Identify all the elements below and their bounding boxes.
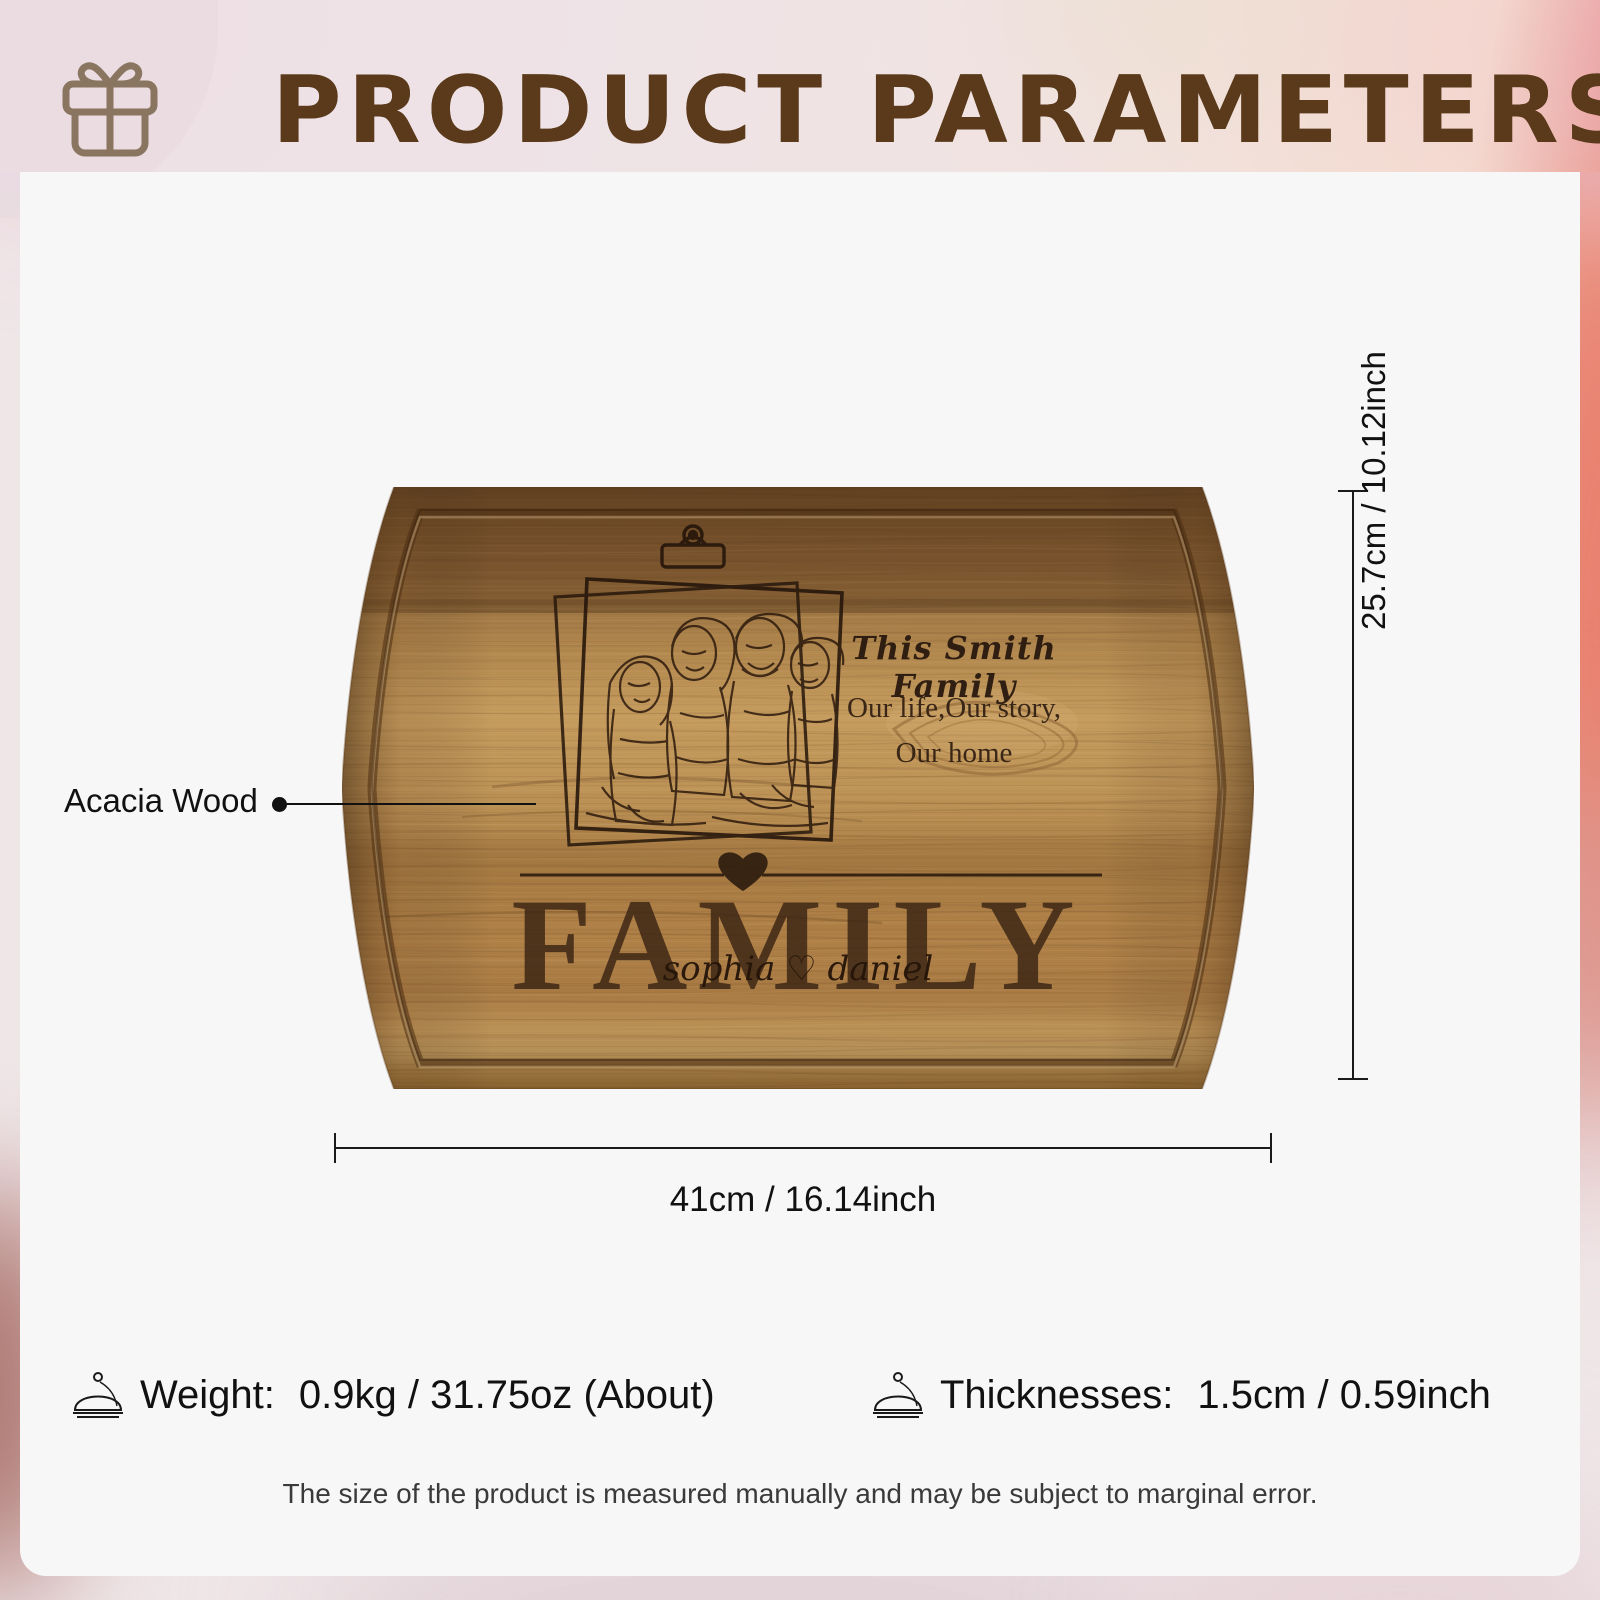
material-callout-leader-line bbox=[286, 803, 536, 805]
material-callout-dot bbox=[272, 797, 287, 812]
spec-weight: Weight: 0.9kg / 31.75oz (About) bbox=[70, 1369, 870, 1421]
spec-thickness: Thicknesses: 1.5cm / 0.59inch bbox=[870, 1369, 1550, 1421]
disclaimer-text: The size of the product is measured manu… bbox=[20, 1478, 1580, 1510]
dimension-width-shaft bbox=[334, 1147, 1272, 1149]
dimension-width-cap-right bbox=[1270, 1133, 1272, 1163]
product-image-cutting-board: This Smith Family Our life,Our story, Ou… bbox=[342, 487, 1254, 1089]
spec-thickness-value: 1.5cm / 0.59inch bbox=[1197, 1373, 1491, 1418]
header-band: PRODUCT PARAMETERS bbox=[0, 0, 1600, 172]
dimension-height-shaft bbox=[1352, 490, 1354, 1080]
dimension-width-line bbox=[334, 1133, 1272, 1163]
board-face bbox=[342, 487, 1254, 1089]
spec-weight-value: 0.9kg / 31.75oz (About) bbox=[299, 1373, 715, 1418]
spec-thickness-label: Thicknesses: bbox=[940, 1373, 1173, 1418]
cloche-icon bbox=[70, 1369, 126, 1421]
gift-icon bbox=[58, 58, 162, 158]
material-callout-label: Acacia Wood bbox=[64, 782, 258, 820]
dimension-height-label: 25.7cm / 10.12inch bbox=[1355, 351, 1393, 630]
page-title: PRODUCT PARAMETERS bbox=[272, 58, 1496, 168]
dimension-width-label: 41cm / 16.14inch bbox=[334, 1180, 1272, 1220]
specs-row: Weight: 0.9kg / 31.75oz (About) Thicknes… bbox=[70, 1355, 1550, 1435]
spec-weight-label: Weight: bbox=[140, 1373, 275, 1418]
cloche-icon bbox=[870, 1369, 926, 1421]
dimension-height-cap-bottom bbox=[1338, 1078, 1368, 1080]
